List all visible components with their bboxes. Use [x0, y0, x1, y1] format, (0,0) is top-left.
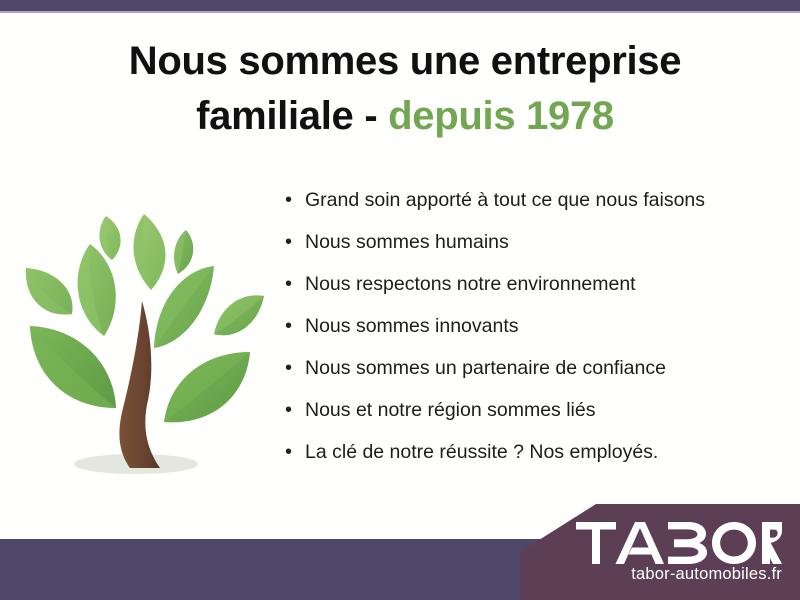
brand-url: tabor-automobiles.fr — [631, 566, 782, 583]
list-item: • Nous et notre région sommes liés — [285, 400, 765, 442]
leaf-lower-left — [30, 326, 116, 408]
list-item: • Nous sommes innovants — [285, 316, 765, 358]
list-item: • La clé de notre réussite ? Nos employé… — [285, 442, 765, 484]
leaf-far-left — [26, 268, 73, 315]
list-item-label: Grand soin apporté à tout ce que nous fa… — [305, 191, 705, 211]
bullet-icon: • — [285, 358, 305, 378]
value-bullet-list: • Grand soin apporté à tout ce que nous … — [285, 190, 765, 484]
list-item-label: Nous sommes un partenaire de confiance — [305, 359, 666, 379]
headline-line-2-main: familiale - — [196, 94, 388, 138]
list-item-label: Nous respectons notre environnement — [305, 275, 636, 295]
bullet-icon: • — [285, 442, 305, 462]
list-item-label: Nous sommes innovants — [305, 317, 519, 337]
top-band — [0, 0, 800, 11]
bullet-icon: • — [285, 316, 305, 336]
slide-canvas: Nous sommes une entreprise familiale - d… — [0, 0, 800, 600]
brand-wordmark — [576, 522, 782, 564]
leaf-top-small-right — [174, 230, 193, 274]
leaf-top-center — [134, 214, 166, 290]
list-item: • Nous respectons notre environnement — [285, 274, 765, 316]
headline-line-1: Nous sommes une entreprise — [129, 39, 681, 83]
brand-logo-panel: tabor-automobiles.fr — [520, 504, 800, 600]
leaf-upper-right — [154, 266, 214, 348]
list-item-label: La clé de notre réussite ? Nos employés. — [305, 443, 658, 463]
list-item-label: Nous et notre région sommes liés — [305, 401, 595, 421]
bullet-icon: • — [285, 190, 305, 210]
list-item-label: Nous sommes humains — [305, 233, 509, 253]
list-item: • Grand soin apporté à tout ce que nous … — [285, 190, 765, 232]
list-item: • Nous sommes un partenaire de confiance — [285, 358, 765, 400]
tree-illustration — [18, 186, 270, 486]
leaf-top-small-left — [99, 216, 120, 260]
list-item: • Nous sommes humains — [285, 232, 765, 274]
bullet-icon: • — [285, 400, 305, 420]
bullet-icon: • — [285, 232, 305, 252]
top-band-hairline — [0, 11, 800, 13]
leaf-far-right — [214, 295, 264, 335]
bullet-icon: • — [285, 274, 305, 294]
leaf-lower-right — [164, 352, 250, 422]
page-title: Nous sommes une entreprise familiale - d… — [60, 34, 750, 144]
tree-trunk — [119, 301, 160, 468]
headline-accent: depuis 1978 — [388, 94, 614, 138]
